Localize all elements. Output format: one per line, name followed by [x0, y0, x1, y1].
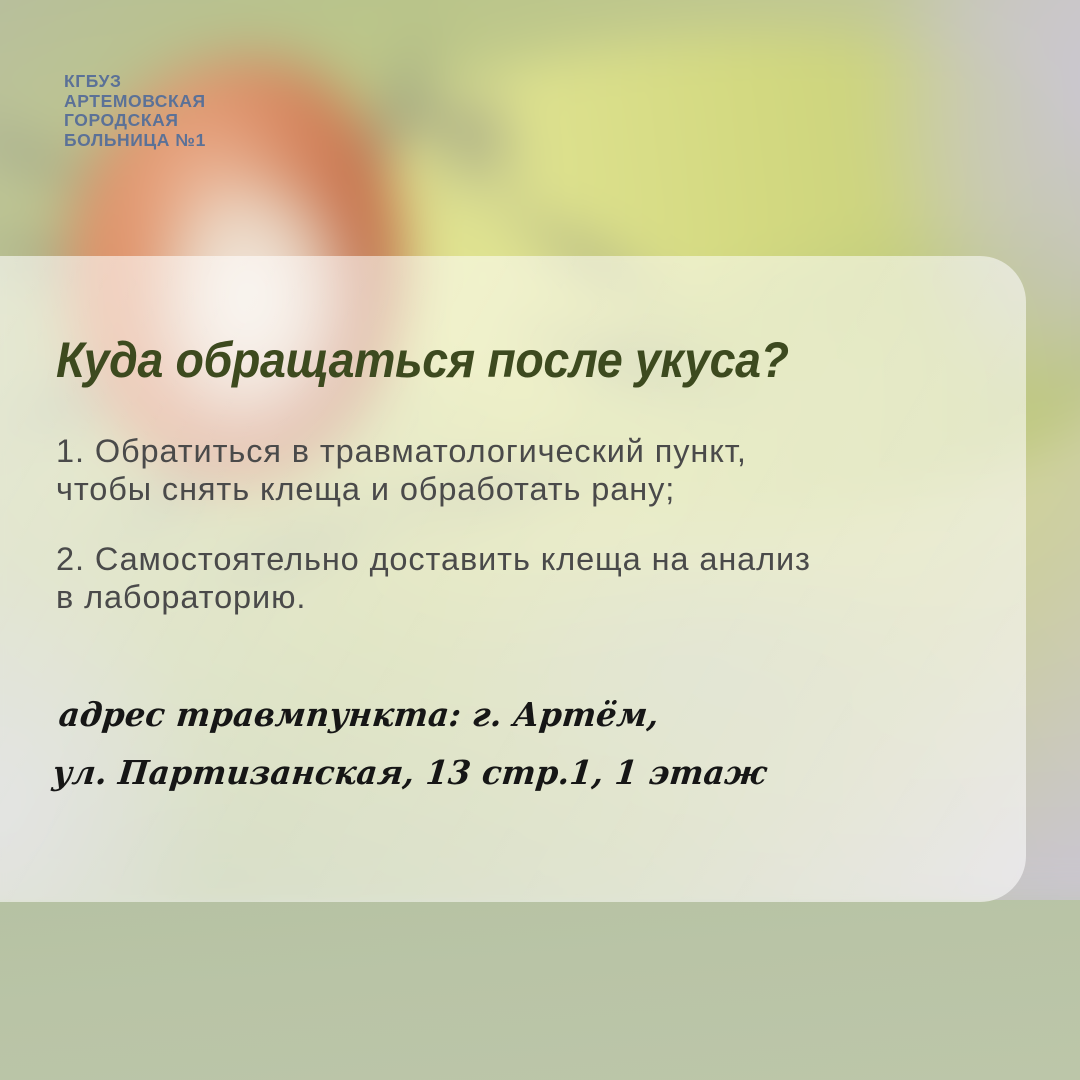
logo-line-3: ГОРОДСКАЯ — [64, 111, 206, 131]
instruction-item-1: 1. Обратиться в травматологический пункт… — [56, 432, 1016, 508]
trauma-center-address: адрес травмпункта: г. Артём, ул. Партиза… — [50, 686, 993, 802]
logo-line-1: КГБУЗ — [64, 72, 206, 92]
hospital-logo-wordmark: КГБУЗ АРТЕМОВСКАЯ ГОРОДСКАЯ БОЛЬНИЦА №1 — [64, 72, 206, 150]
page-title: Куда обращаться после укуса? — [56, 332, 949, 388]
logo-line-2: АРТЕМОВСКАЯ — [64, 92, 206, 112]
lower-sage-panel — [0, 900, 1080, 1080]
instruction-item-2: 2. Самостоятельно доставить клеща на ана… — [56, 540, 1016, 616]
logo-line-4: БОЛЬНИЦА №1 — [64, 131, 206, 151]
card-content: Куда обращаться после укуса? 1. Обратить… — [56, 256, 1016, 802]
